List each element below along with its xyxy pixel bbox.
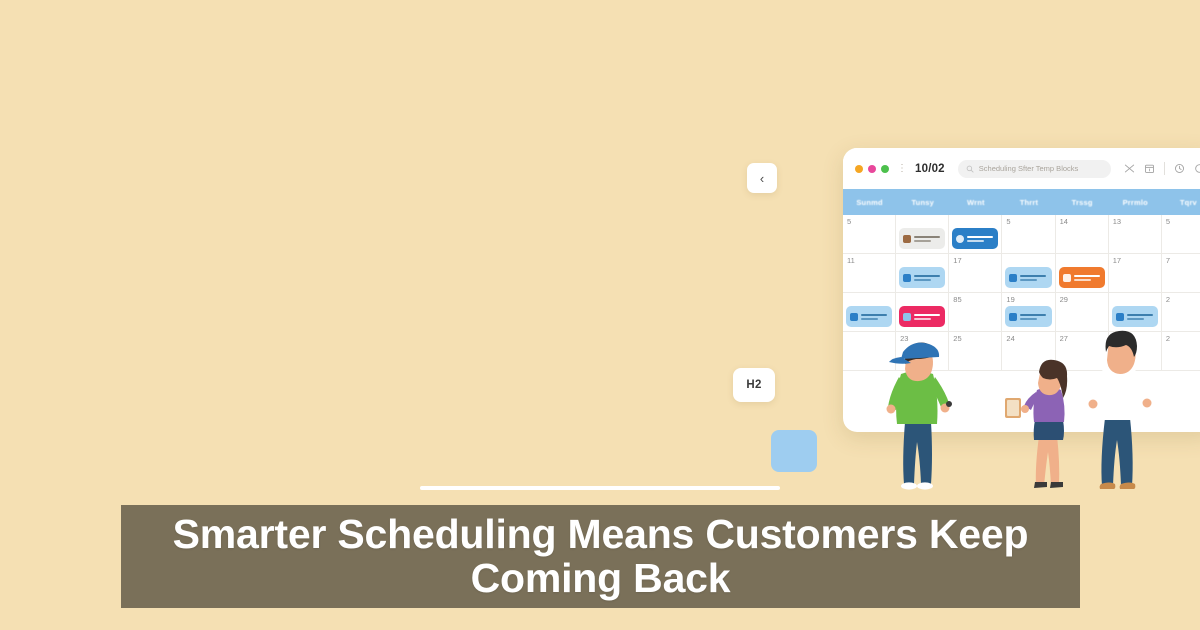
search-input[interactable]: Scheduling Sfter Temp Blocks	[958, 160, 1111, 178]
calendar-day-cell[interactable]	[1056, 254, 1109, 293]
day-number: 5	[847, 218, 891, 226]
day-number: 25	[1113, 335, 1157, 343]
calendar-day-cell[interactable]: 14	[1056, 215, 1109, 254]
event-type-icon	[903, 235, 911, 243]
weekday-3: Thrrt	[1002, 189, 1055, 215]
dot-orange-icon[interactable]	[855, 165, 863, 173]
event-type-icon	[903, 274, 911, 282]
weekday-header-row: Sunmd Tunsy Wrnt Thrrt Trssg Prrmlo Tqrv	[843, 189, 1200, 215]
event-type-icon	[956, 235, 964, 243]
event-type-icon	[1009, 313, 1017, 321]
event-label	[967, 236, 993, 242]
event-label	[914, 236, 940, 242]
event-label	[1020, 275, 1046, 281]
search-icon	[966, 165, 974, 173]
day-number: 24	[1006, 335, 1050, 343]
weekday-2: Wrnt	[949, 189, 1002, 215]
event-type-icon	[850, 313, 858, 321]
event-label	[1074, 275, 1100, 281]
calendar-day-cell[interactable]: 5	[843, 215, 896, 254]
calendar-day-cell[interactable]	[1109, 293, 1162, 332]
event-label	[1020, 314, 1046, 320]
headline-banner: Smarter Scheduling Means Customers Keep …	[121, 505, 1080, 608]
calendar-event-chip[interactable]	[899, 306, 945, 327]
calendar-date-label: 10/02	[915, 163, 945, 175]
calendar-day-cell[interactable]: 17	[949, 254, 1002, 293]
calendar-day-cell[interactable]: 11	[843, 254, 896, 293]
calendar-day-cell[interactable]: 24	[1002, 332, 1055, 371]
calendar-app-window: ⋮ 10/02 Scheduling Sfter Temp Blocks	[843, 148, 1200, 432]
calendar-day-cell[interactable]: 85	[949, 293, 1002, 332]
calendar-day-cell[interactable]	[949, 215, 1002, 254]
dot-pink-icon[interactable]	[868, 165, 876, 173]
calendar-event-chip[interactable]	[899, 267, 945, 288]
day-number: 5	[1166, 218, 1200, 226]
calendar-event-chip[interactable]	[1005, 267, 1051, 288]
dot-green-icon[interactable]	[881, 165, 889, 173]
calendar-event-chip[interactable]	[1005, 306, 1051, 327]
clock-icon[interactable]	[1174, 163, 1185, 174]
toolbar-divider	[1164, 162, 1165, 175]
calendar-day-cell[interactable]: 29	[1056, 293, 1109, 332]
calendar-day-cell[interactable]	[896, 293, 949, 332]
calendar-day-cell[interactable]: 17	[1109, 254, 1162, 293]
weekday-5: Prrmlo	[1109, 189, 1162, 215]
search-placeholder-text: Scheduling Sfter Temp Blocks	[979, 164, 1079, 173]
day-number: 14	[1060, 218, 1104, 226]
event-type-icon	[903, 313, 911, 321]
calendar-day-cell[interactable]	[896, 215, 949, 254]
day-number: 2	[1166, 335, 1200, 343]
day-number: 25	[953, 335, 997, 343]
calendar-day-cell[interactable]: 7	[1162, 254, 1200, 293]
weekday-4: Trssg	[1056, 189, 1109, 215]
calendar-day-cell[interactable]	[843, 332, 896, 371]
calendar-day-cell[interactable]: 25	[1109, 332, 1162, 371]
day-number: 29	[1060, 296, 1104, 304]
title-divider	[420, 486, 780, 490]
day-number: 7	[1166, 257, 1200, 265]
weekday-6: Tqrv	[1162, 189, 1200, 215]
calendar-day-cell[interactable]	[896, 254, 949, 293]
event-type-icon	[1063, 274, 1071, 282]
calendar-delete-icon[interactable]	[1144, 163, 1155, 174]
event-label	[1127, 314, 1153, 320]
day-number: 85	[953, 296, 997, 304]
calendar-day-cell[interactable]: 19	[1002, 293, 1055, 332]
event-type-icon	[1009, 274, 1017, 282]
day-number: 5	[1006, 218, 1050, 226]
event-label	[914, 314, 940, 320]
calendar-day-cell[interactable]: 13	[1109, 215, 1162, 254]
calendar-day-cell[interactable]	[1002, 254, 1055, 293]
heading-level-badge[interactable]: H2	[733, 368, 775, 402]
weekday-1: Tunsy	[896, 189, 949, 215]
day-number: 17	[1113, 257, 1157, 265]
weekday-0: Sunmd	[843, 189, 896, 215]
calendar-day-cell[interactable]: 2	[1162, 332, 1200, 371]
window-traffic-lights[interactable]	[855, 165, 889, 173]
calendar-event-chip[interactable]	[899, 228, 945, 249]
poster-canvas: ⋮ 10/02 Scheduling Sfter Temp Blocks	[0, 0, 1200, 630]
calendar-day-cell[interactable]: 23	[896, 332, 949, 371]
blue-square-placeholder[interactable]	[771, 430, 817, 472]
calendar-day-cell[interactable]	[843, 293, 896, 332]
calendar-month-grid: 55141351117177851929223252427252	[843, 215, 1200, 371]
calendar-event-chip[interactable]	[952, 228, 998, 249]
calendar-toolbar	[1124, 162, 1200, 175]
day-number: 23	[900, 335, 944, 343]
calendar-day-cell[interactable]: 25	[949, 332, 1002, 371]
day-number: 17	[953, 257, 997, 265]
shuffle-icon[interactable]	[1124, 163, 1135, 174]
calendar-day-cell[interactable]: 2	[1162, 293, 1200, 332]
calendar-event-chip[interactable]	[1059, 267, 1105, 288]
day-number: 27	[1060, 335, 1104, 343]
event-label	[914, 275, 940, 281]
prev-arrow-button[interactable]: ‹	[747, 163, 777, 193]
refresh-icon[interactable]	[1194, 163, 1200, 174]
calendar-day-cell[interactable]: 5	[1002, 215, 1055, 254]
day-number: 2	[1166, 296, 1200, 304]
page-title: Smarter Scheduling Means Customers Keep …	[139, 513, 1062, 601]
day-number: 11	[847, 257, 891, 265]
calendar-event-chip[interactable]	[1112, 306, 1158, 327]
day-number: 13	[1113, 218, 1157, 226]
window-chrome-bar: ⋮ 10/02 Scheduling Sfter Temp Blocks	[843, 148, 1200, 189]
calendar-event-chip[interactable]	[846, 306, 892, 327]
day-number: 19	[1006, 296, 1050, 304]
kebab-menu-icon[interactable]: ⋮	[897, 163, 907, 174]
event-type-icon	[1116, 313, 1124, 321]
event-label	[861, 314, 887, 320]
calendar-day-cell[interactable]: 5	[1162, 215, 1200, 254]
calendar-day-cell[interactable]: 27	[1056, 332, 1109, 371]
